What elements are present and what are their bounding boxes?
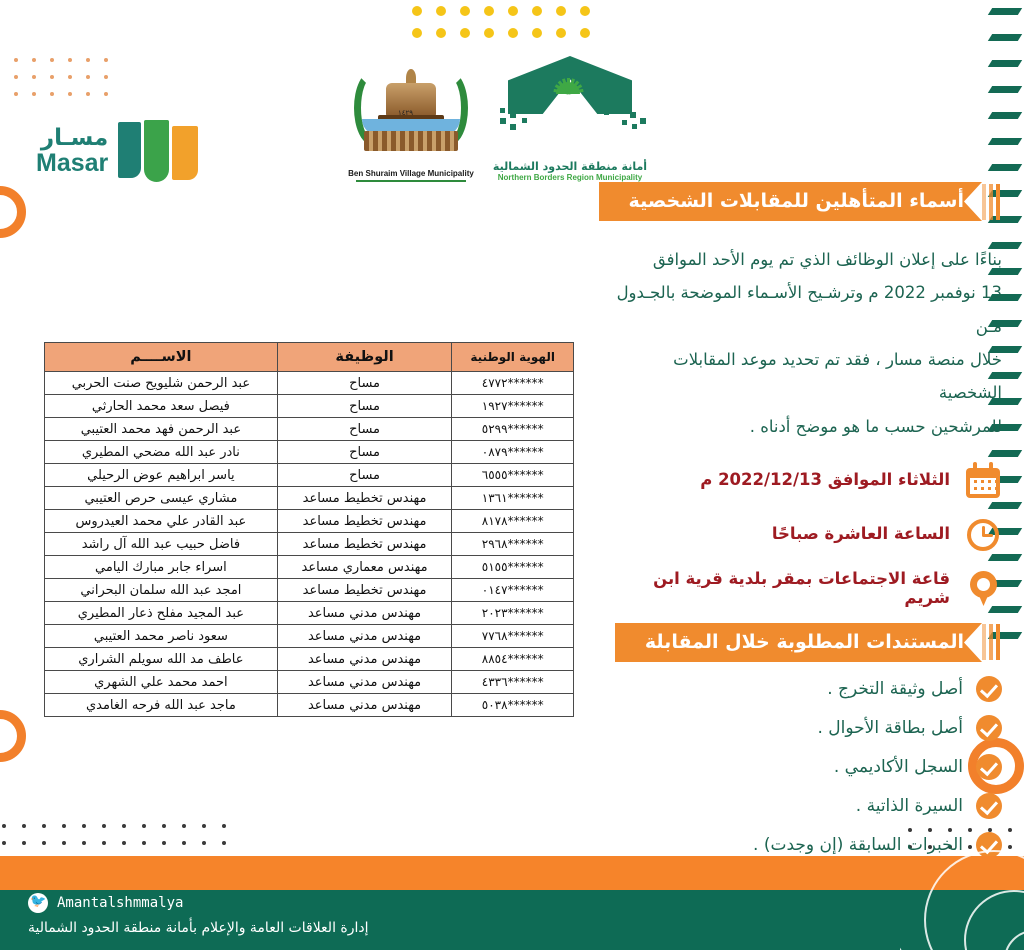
list-item: أصل وثيقة التخرج . xyxy=(614,676,1002,702)
twitter-handle-row[interactable]: Amantalshmmalya xyxy=(28,893,369,913)
document-label: السيرة الذاتية . xyxy=(856,796,963,816)
cell-national-id: ******٤٧٧٢ xyxy=(452,372,574,395)
masar-logo: مسـار Masar xyxy=(36,120,204,182)
footer-department-text: إدارة العلاقات العامة والإعلام بأمانة من… xyxy=(28,920,369,936)
green-dash xyxy=(988,34,1022,41)
document-label: أصل وثيقة التخرج . xyxy=(827,679,963,699)
cell-job: مساح xyxy=(277,418,452,441)
cell-job: مهندس تخطيط مساعد xyxy=(277,533,452,556)
meeting-location-text: قاعة الاجتماعات بمقر بلدية قرية ابن شريم xyxy=(614,569,950,607)
list-item: السيرة الذاتية . xyxy=(614,793,1002,819)
cell-job: مهندس مدني مساعد xyxy=(277,648,452,671)
cell-name: ياسر ابراهيم عوض الرحيلي xyxy=(45,464,278,487)
intro-line-2: 13 نوفمبر 2022 م وترشـيح الأسـماء الموضح… xyxy=(614,276,1002,343)
cell-national-id: ******٧٧٦٨ xyxy=(452,625,574,648)
intro-line-3: خلال منصة مسار ، فقد تم تحديد موعد المقا… xyxy=(614,343,1002,410)
meeting-location-row: قاعة الاجتماعات بمقر بلدية قرية ابن شريم xyxy=(614,569,1002,607)
masar-logo-arabic: مسـار xyxy=(36,126,108,150)
cell-national-id: ******١٣٦١ xyxy=(452,487,574,510)
table-row: ******١٩٢٧مساحفيصل سعد محمد الحارثي xyxy=(45,395,574,418)
footer-orange-bar xyxy=(0,856,1024,890)
names-banner-label: أسماء المتأهلين للمقابلات الشخصية xyxy=(599,182,982,221)
cell-name: سعود ناصر محمد العتيبي xyxy=(45,625,278,648)
table-body: ******٤٧٧٢مساحعبد الرحمن شليويح صنت الحر… xyxy=(45,372,574,717)
clock-icon xyxy=(964,515,1002,553)
cell-national-id: ******٠٨٧٩ xyxy=(452,441,574,464)
cell-national-id: ******٦٥٥٥ xyxy=(452,464,574,487)
cell-job: مهندس مدني مساعد xyxy=(277,625,452,648)
cell-name: فيصل سعد محمد الحارثي xyxy=(45,395,278,418)
meeting-date-text: الثلاثاء الموافق 2022/12/13 م xyxy=(700,470,950,489)
cell-job: مساح xyxy=(277,464,452,487)
intro-paragraph: بناءًا على إعلان الوظائف الذي تم يوم الأ… xyxy=(614,243,1002,443)
cell-national-id: ******٨٨٥٤ xyxy=(452,648,574,671)
table-row: ******٤٣٣٦مهندس مدني مساعداحمد محمد علي … xyxy=(45,671,574,694)
cell-job: مهندس معماري مساعد xyxy=(277,556,452,579)
green-dash xyxy=(988,112,1022,119)
masar-logo-english: Masar xyxy=(36,150,108,176)
location-pin-icon xyxy=(964,569,1002,607)
ben-shuraim-crest-icon: ١٤٢٩ xyxy=(348,63,474,167)
cell-national-id: ******٥٠٣٨ xyxy=(452,694,574,717)
yellow-dot-pattern xyxy=(400,6,604,50)
cell-name: اسراء جابر مبارك اليامي xyxy=(45,556,278,579)
column-header-job: الوظيفة xyxy=(277,343,452,372)
northern-borders-name-arabic: أمانة منطقة الحدود الشمالية xyxy=(490,160,650,173)
table-row: ******٧٧٦٨مهندس مدني مساعدسعود ناصر محمد… xyxy=(45,625,574,648)
banner-stripes-icon xyxy=(982,184,1000,220)
table-row: ******٨٨٥٤مهندس مدني مساعدعاطف مد الله س… xyxy=(45,648,574,671)
table-row: ******٥١٥٥مهندس معماري مساعداسراء جابر م… xyxy=(45,556,574,579)
cell-job: مهندس مدني مساعد xyxy=(277,694,452,717)
calendar-icon xyxy=(964,461,1002,499)
cell-name: فاضل حبيب عبد الله آل راشد xyxy=(45,533,278,556)
table-row: ******٢٩٦٨مهندس تخطيط مساعدفاضل حبيب عبد… xyxy=(45,533,574,556)
footer-content: Amantalshmmalya إدارة العلاقات العامة وا… xyxy=(28,893,369,936)
table-row: ******٤٧٧٢مساحعبد الرحمن شليويح صنت الحر… xyxy=(45,372,574,395)
intro-line-4: للمرشحين حسب ما هو موضح أدناه . xyxy=(614,410,1002,443)
cell-name: نادر عبد الله مضحي المطيري xyxy=(45,441,278,464)
documents-banner: المستندات المطلوبة خلال المقابلة xyxy=(614,623,1002,662)
table-row: ******٥٠٣٨مهندس مدني مساعدماجد عبد الله … xyxy=(45,694,574,717)
palm-sun-icon xyxy=(547,64,589,94)
cell-job: مهندس تخطيط مساعد xyxy=(277,487,452,510)
cell-name: مشاري عيسى حرص العتيبي xyxy=(45,487,278,510)
right-content-column: أسماء المتأهلين للمقابلات الشخصية بناءًا… xyxy=(614,182,1002,871)
cell-name: احمد محمد علي الشهري xyxy=(45,671,278,694)
dark-dot-grid-bottomleft xyxy=(2,824,242,858)
meeting-date-row: الثلاثاء الموافق 2022/12/13 م xyxy=(614,461,1002,499)
orange-ring-decor-top xyxy=(0,186,26,238)
candidates-table: الهوية الوطنية الوظيفة الاســــم ******٤… xyxy=(44,342,574,717)
green-dash xyxy=(988,8,1022,15)
documents-banner-label: المستندات المطلوبة خلال المقابلة xyxy=(615,623,982,662)
cell-name: عاطف مد الله سويلم الشراري xyxy=(45,648,278,671)
list-item: أصل بطاقة الأحوال . xyxy=(614,715,1002,741)
table-row: ******٠١٤٧مهندس تخطيط مساعدامجد عبد الله… xyxy=(45,579,574,602)
intro-line-1: بناءًا على إعلان الوظائف الذي تم يوم الأ… xyxy=(614,243,1002,276)
meeting-time-text: الساعة العاشرة صباحًا xyxy=(772,524,950,543)
check-circle-icon xyxy=(976,715,1002,741)
cell-national-id: ******٨١٧٨ xyxy=(452,510,574,533)
orange-dot-grid-topleft xyxy=(14,58,122,109)
cell-name: عبد القادر علي محمد العيدروس xyxy=(45,510,278,533)
candidates-table-container: الهوية الوطنية الوظيفة الاســــم ******٤… xyxy=(44,342,574,717)
check-circle-icon xyxy=(976,793,1002,819)
twitter-handle-text: Amantalshmmalya xyxy=(57,895,183,911)
municipality-logos: أمانة منطقة الحدود الشمالية Northern Bor… xyxy=(348,52,650,182)
cell-national-id: ******٤٣٣٦ xyxy=(452,671,574,694)
green-dash xyxy=(988,60,1022,67)
cell-national-id: ******١٩٢٧ xyxy=(452,395,574,418)
cell-job: مساح xyxy=(277,395,452,418)
green-dash xyxy=(988,164,1022,171)
green-dash xyxy=(988,138,1022,145)
check-circle-icon xyxy=(976,754,1002,780)
list-item: السجل الأكاديمي . xyxy=(614,754,1002,780)
check-circle-icon xyxy=(976,676,1002,702)
northern-borders-logo: أمانة منطقة الحدود الشمالية Northern Bor… xyxy=(490,52,650,182)
table-row: ******٠٨٧٩مساحنادر عبد الله مضحي المطيري xyxy=(45,441,574,464)
meeting-details-list: الثلاثاء الموافق 2022/12/13 م الساعة الع… xyxy=(614,461,1002,607)
meeting-time-row: الساعة العاشرة صباحًا xyxy=(614,515,1002,553)
cell-job: مساح xyxy=(277,441,452,464)
green-dash xyxy=(988,86,1022,93)
cell-national-id: ******٠١٤٧ xyxy=(452,579,574,602)
cell-job: مهندس مدني مساعد xyxy=(277,671,452,694)
masar-books-icon xyxy=(118,120,204,182)
cell-national-id: ******٥٢٩٩ xyxy=(452,418,574,441)
cell-name: امجد عبد الله سلمان البحراني xyxy=(45,579,278,602)
cell-name: عبد المجيد مفلح ذعار المطيري xyxy=(45,602,278,625)
table-row: ******٦٥٥٥مساحياسر ابراهيم عوض الرحيلي xyxy=(45,464,574,487)
table-row: ******٨١٧٨مهندس تخطيط مساعدعبد القادر عل… xyxy=(45,510,574,533)
twitter-bird-icon[interactable] xyxy=(28,893,48,913)
orange-ring-decor-bottom xyxy=(0,710,26,762)
names-banner: أسماء المتأهلين للمقابلات الشخصية xyxy=(614,182,1002,221)
northern-borders-name-english: Northern Borders Region Municipality xyxy=(490,173,650,182)
cell-national-id: ******٢٠٢٣ xyxy=(452,602,574,625)
cell-national-id: ******٢٩٦٨ xyxy=(452,533,574,556)
cell-job: مهندس تخطيط مساعد xyxy=(277,510,452,533)
cell-name: عبد الرحمن شليويح صنت الحربي xyxy=(45,372,278,395)
cell-job: مهندس تخطيط مساعد xyxy=(277,579,452,602)
banner-stripes-icon xyxy=(982,624,1000,660)
cell-job: مساح xyxy=(277,372,452,395)
table-header-row: الهوية الوطنية الوظيفة الاســــم xyxy=(45,343,574,372)
document-label: أصل بطاقة الأحوال . xyxy=(817,718,963,738)
table-row: ******٥٢٩٩مساحعبد الرحمن فهد محمد العتيب… xyxy=(45,418,574,441)
cell-job: مهندس مدني مساعد xyxy=(277,602,452,625)
column-header-name: الاســــم xyxy=(45,343,278,372)
poster-page: مسـار Masar أمانة منطقة الحدود الشمالية … xyxy=(0,0,1024,950)
table-row: ******١٣٦١مهندس تخطيط مساعدمشاري عيسى حر… xyxy=(45,487,574,510)
cell-name: عبد الرحمن فهد محمد العتيبي xyxy=(45,418,278,441)
cell-national-id: ******٥١٥٥ xyxy=(452,556,574,579)
table-row: ******٢٠٢٣مهندس مدني مساعدعبد المجيد مفل… xyxy=(45,602,574,625)
document-label: السجل الأكاديمي . xyxy=(834,757,963,777)
ben-shuraim-caption: Ben Shuraim Village Municipality xyxy=(348,169,474,178)
masar-logo-text: مسـار Masar xyxy=(36,126,108,176)
cell-name: ماجد عبد الله فرحه الغامدي xyxy=(45,694,278,717)
column-header-national-id: الهوية الوطنية xyxy=(452,343,574,372)
ben-shuraim-logo: ١٤٢٩ Ben Shuraim Village Municipality xyxy=(348,63,474,182)
northern-borders-emblem-icon xyxy=(490,52,650,160)
footer-arc-decor xyxy=(900,830,1024,950)
